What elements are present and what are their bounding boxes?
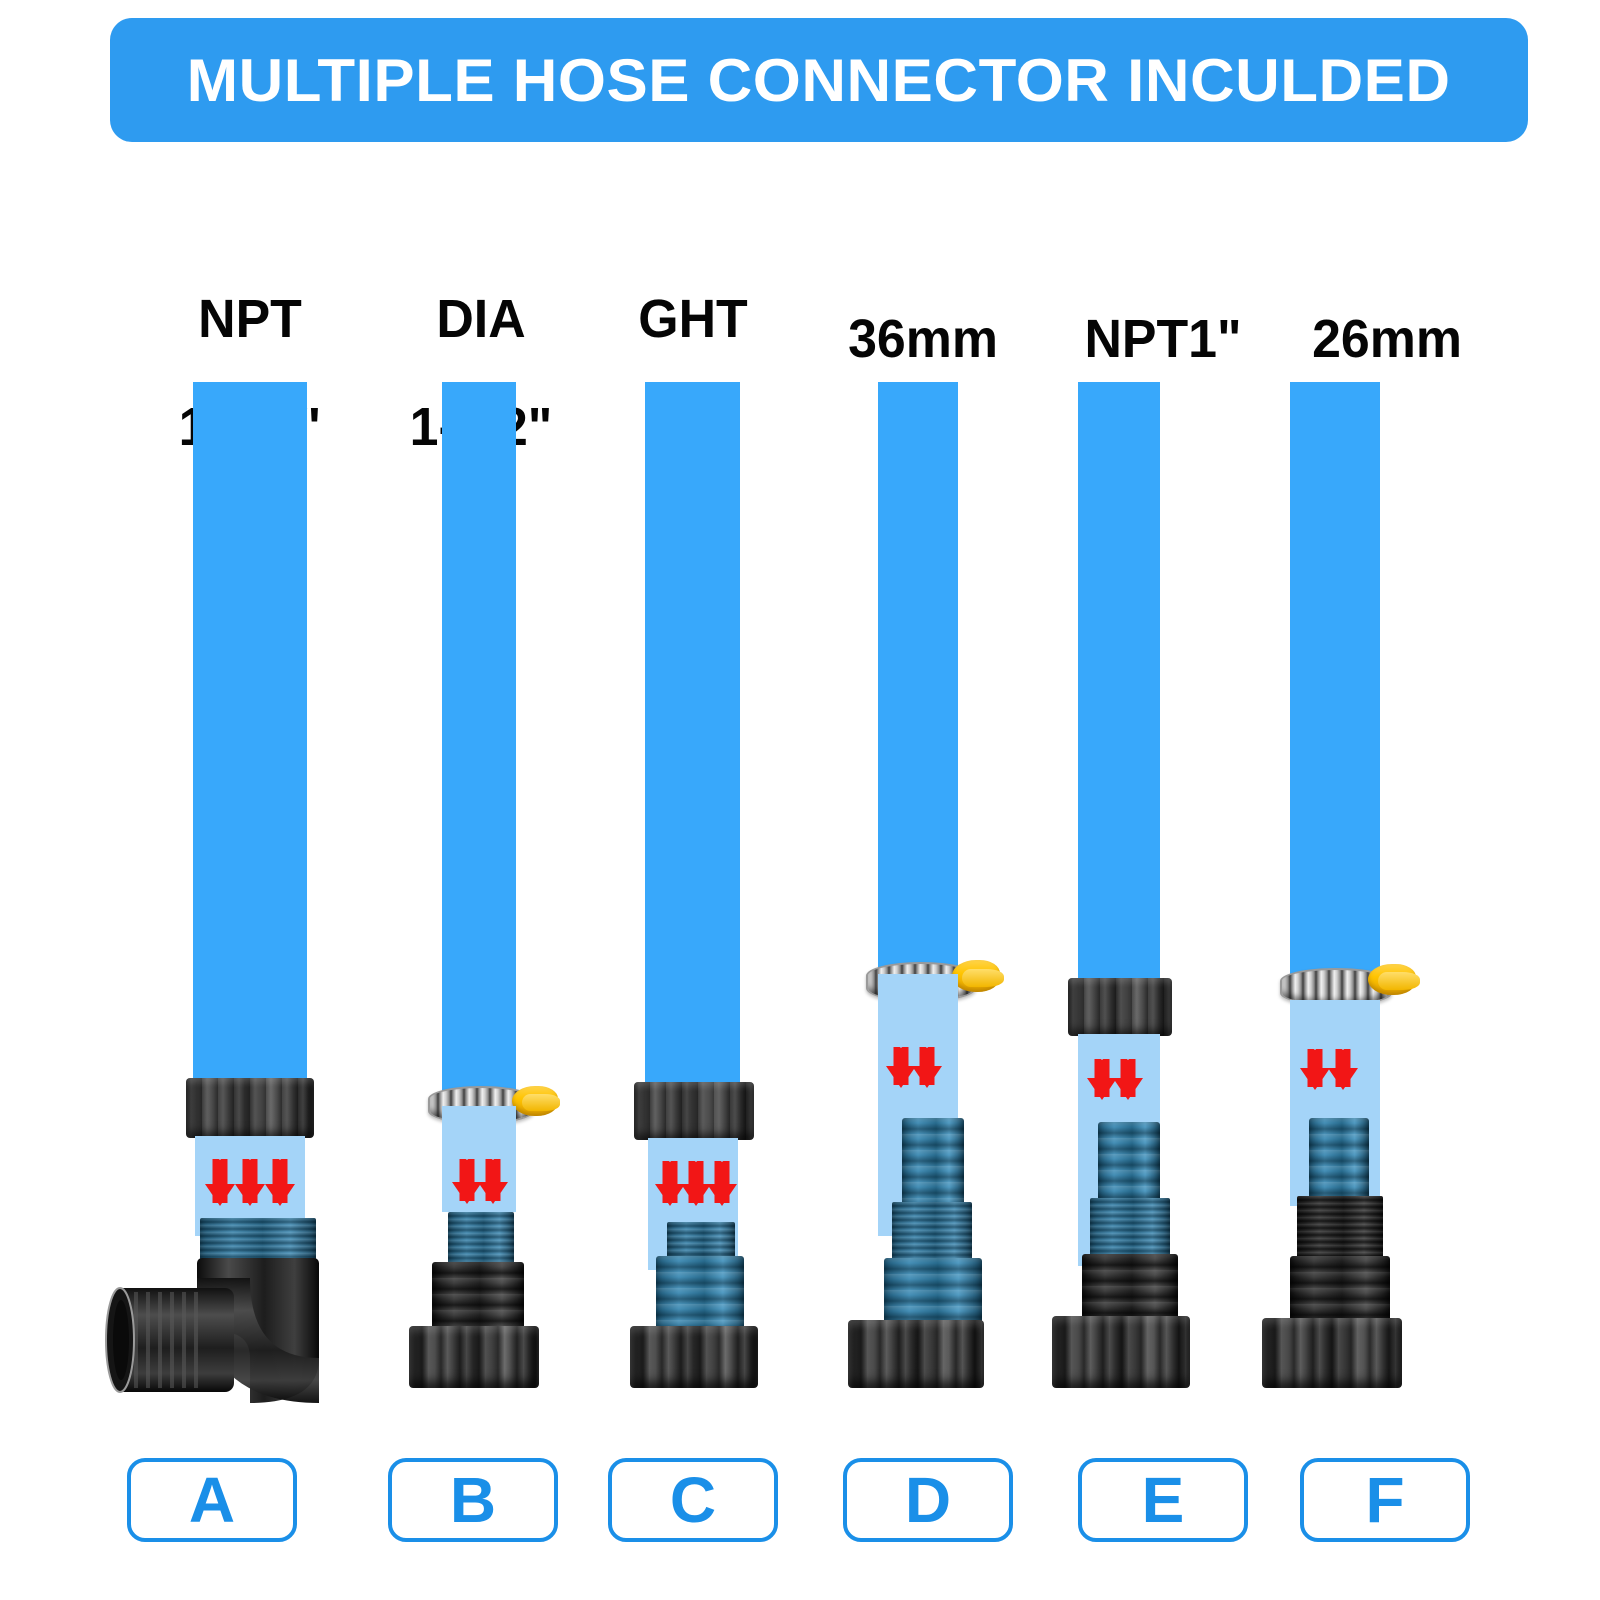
blue-barb-f [1309, 1118, 1369, 1202]
hose-tube-b [442, 382, 516, 1106]
flow-arrow-icon [235, 1148, 265, 1218]
blue-threaded-neck-c [667, 1222, 735, 1260]
flow-arrow-icon [707, 1150, 737, 1218]
badge-a-letter: A [189, 1468, 235, 1532]
column-label-e-line1: NPT1" [1062, 312, 1264, 366]
blue-lower-barb-d [884, 1258, 982, 1326]
black-nut-e [1052, 1316, 1190, 1388]
black-collar-c [634, 1082, 754, 1140]
column-label-c-line1: GHT [602, 292, 784, 346]
badge-a[interactable]: A [127, 1458, 297, 1542]
black-collar-a [186, 1078, 314, 1138]
hose-tube-a [193, 382, 307, 1082]
banner-title: MULTIPLE HOSE CONNECTOR INCULDED [187, 46, 1451, 115]
black-collar-e [1068, 978, 1172, 1036]
hose-tube-f [1290, 382, 1380, 980]
badge-f[interactable]: F [1300, 1458, 1470, 1542]
hose-tube-e [1078, 382, 1160, 980]
flow-arrow-icon [1300, 1038, 1330, 1100]
badge-d[interactable]: D [843, 1458, 1013, 1542]
column-label-a-line1: NPT [159, 292, 341, 346]
black-ribbed-body-f [1290, 1256, 1390, 1322]
clamp-wing-tail-f [1378, 972, 1420, 990]
hose-tube-c [645, 382, 740, 1084]
blue-threaded-barb-b [448, 1212, 514, 1266]
black-ribbed-body-b [432, 1262, 524, 1334]
column-label-b-line1: DIA [390, 292, 572, 346]
elbow-fitting-a [100, 1258, 330, 1403]
black-nut-d [848, 1320, 984, 1388]
badge-d-letter: D [905, 1468, 951, 1532]
blue-thread-d [892, 1202, 972, 1264]
clamp-wing-tail-d [962, 969, 1004, 987]
badge-b[interactable]: B [388, 1458, 558, 1542]
blue-barb-c [656, 1256, 744, 1332]
black-thread-f [1297, 1196, 1383, 1262]
column-label-f-line1: 26mm [1286, 312, 1488, 366]
flow-arrow-icon [478, 1148, 508, 1216]
blue-barb-d [902, 1118, 964, 1210]
flow-arrow-icon [265, 1148, 295, 1218]
black-nut-b [409, 1326, 539, 1388]
badge-c[interactable]: C [608, 1458, 778, 1542]
black-nut-f [1262, 1318, 1402, 1388]
blue-barb-e [1098, 1122, 1160, 1206]
flow-arrow-icon [205, 1148, 235, 1218]
flow-arrow-icon [1113, 1048, 1143, 1110]
black-nut-c [630, 1326, 758, 1388]
badge-c-letter: C [670, 1468, 716, 1532]
column-label-d-line1: 36mm [822, 312, 1024, 366]
badge-e-letter: E [1142, 1468, 1185, 1532]
badge-f-letter: F [1365, 1468, 1404, 1532]
black-ribbed-body-e [1082, 1254, 1178, 1320]
hose-tube-d [878, 382, 958, 974]
flow-arrow-icon [1328, 1038, 1358, 1100]
header-banner: MULTIPLE HOSE CONNECTOR INCULDED [110, 18, 1528, 142]
flow-arrow-icon [912, 1036, 942, 1098]
blue-thread-e [1090, 1198, 1170, 1260]
badge-e[interactable]: E [1078, 1458, 1248, 1542]
clamp-wing-tail-b [522, 1094, 560, 1111]
badge-b-letter: B [450, 1468, 496, 1532]
